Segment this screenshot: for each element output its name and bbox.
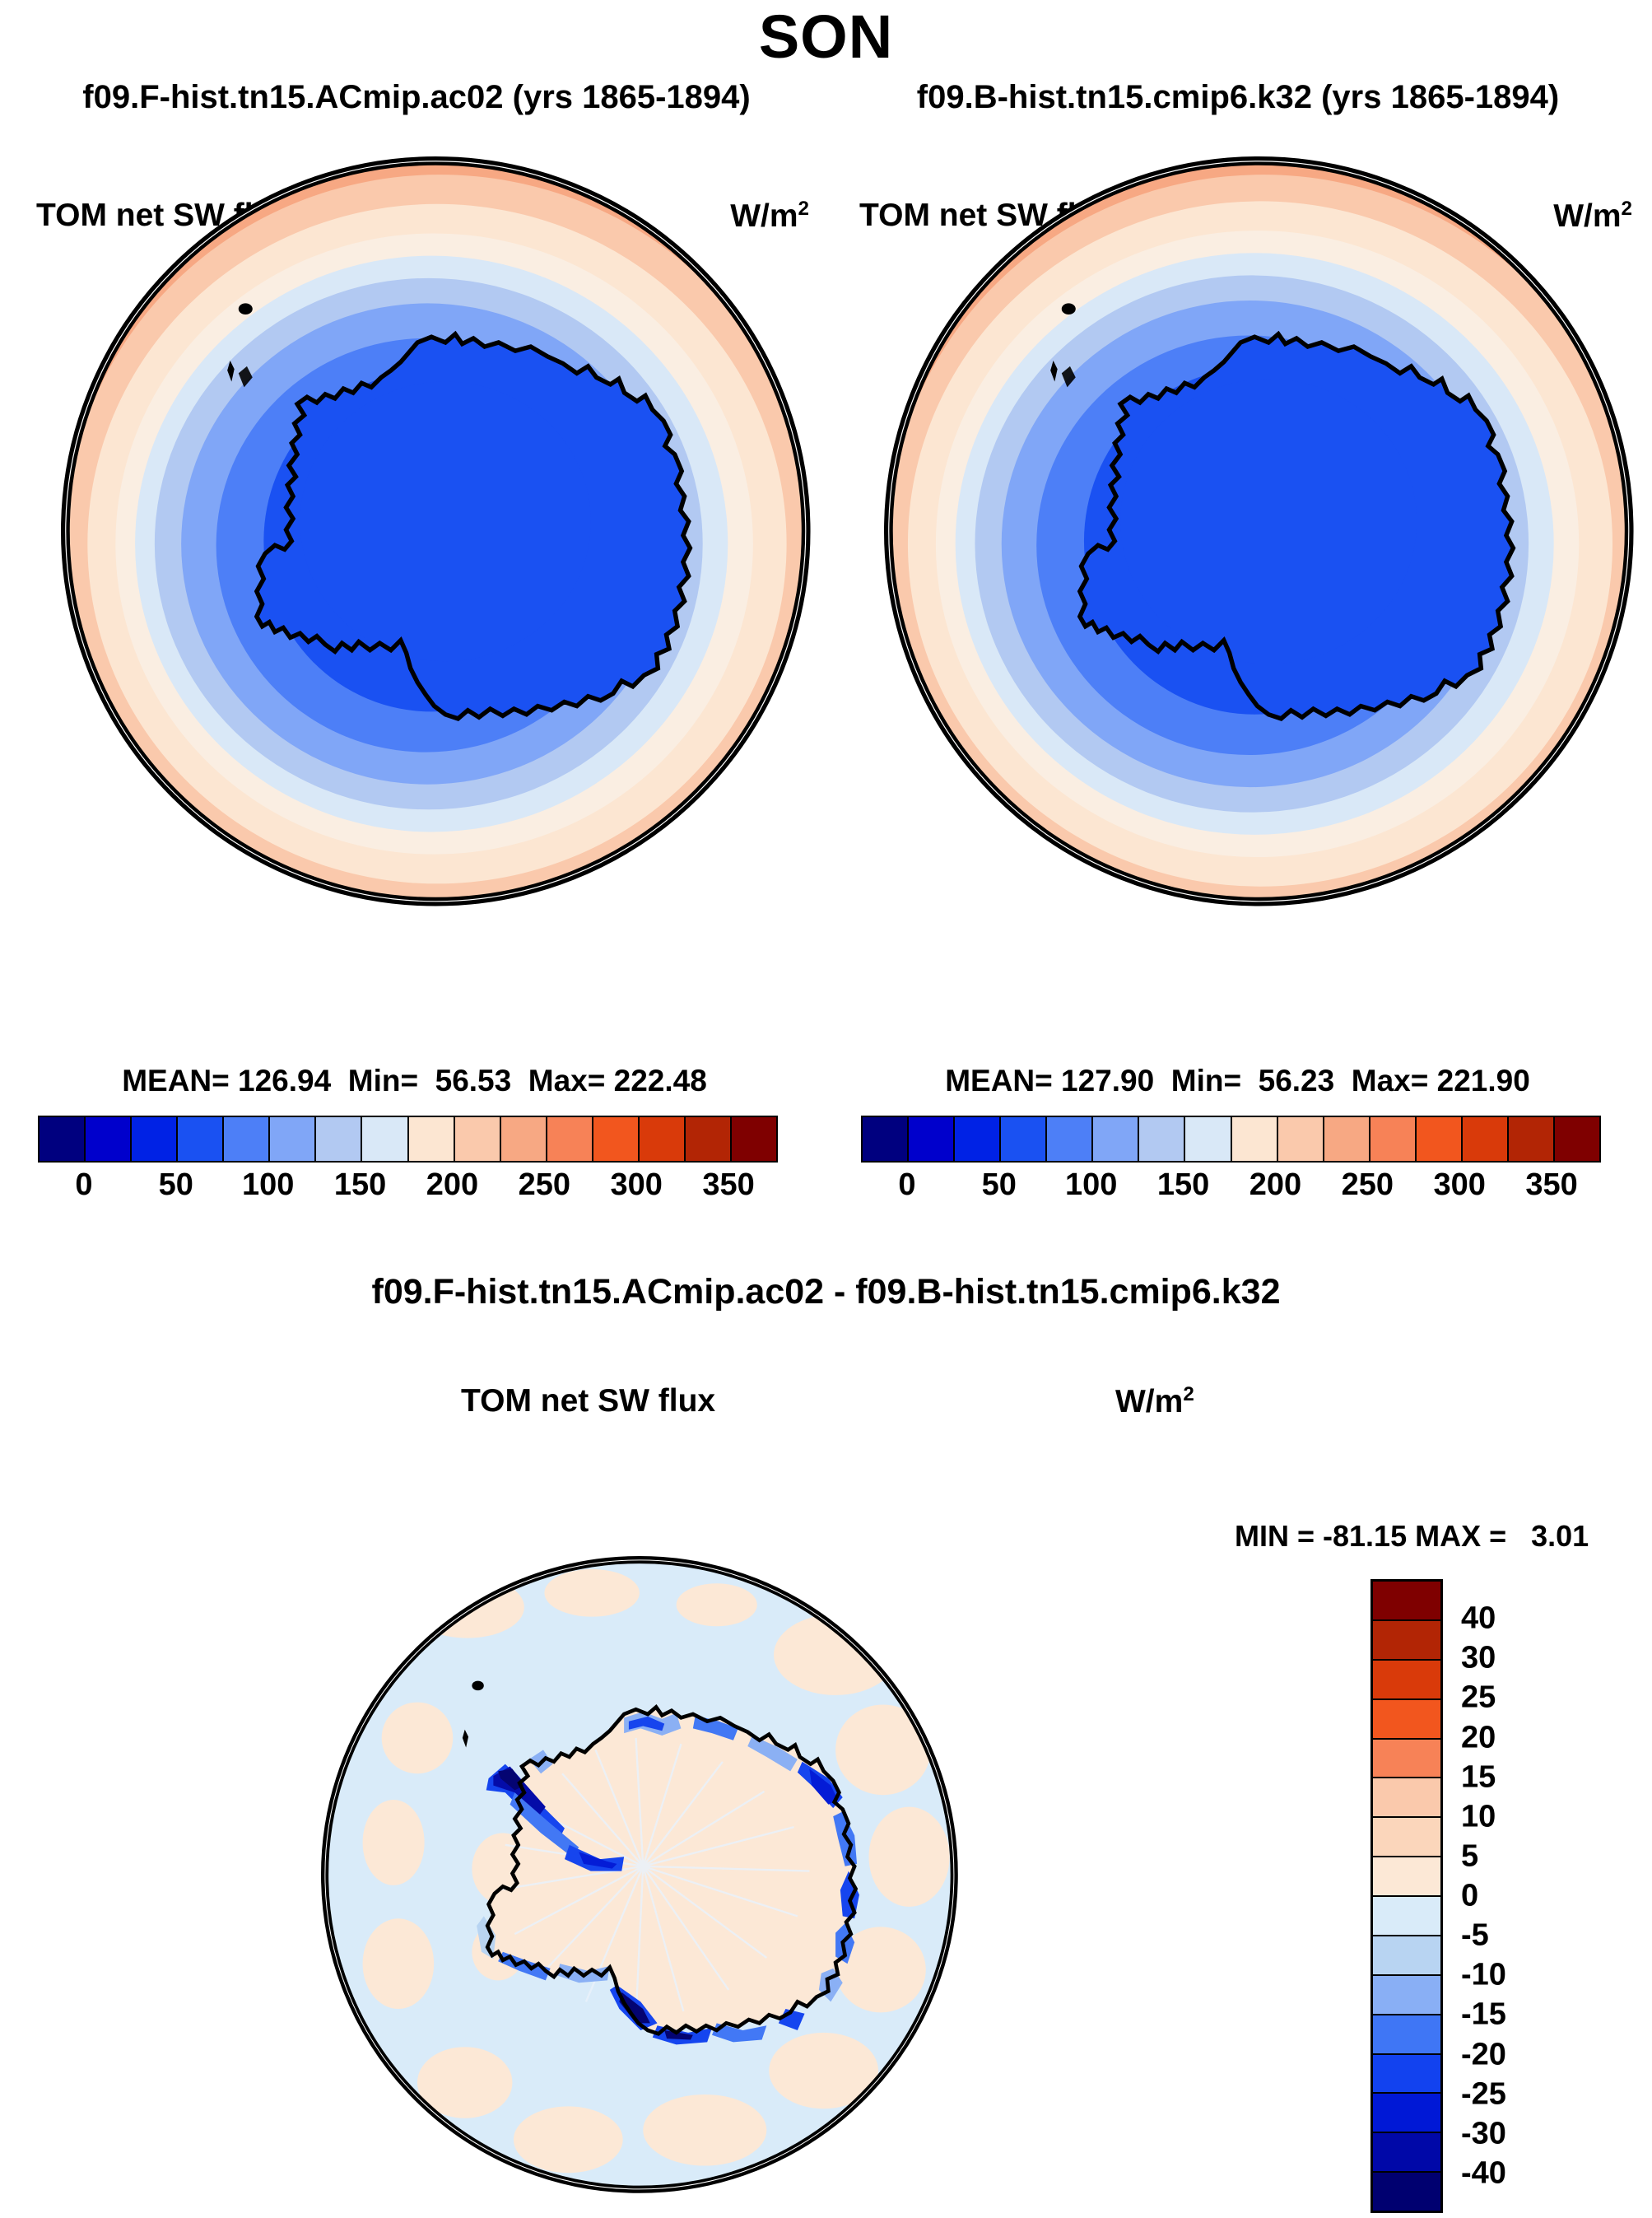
colorbar-cell-7 xyxy=(362,1117,408,1161)
colorbar-cell-7 xyxy=(1185,1117,1231,1161)
colorbar-tick-label: 350 xyxy=(702,1167,754,1203)
colorbar-right-labels: 050100150200250300350 xyxy=(861,1167,1598,1205)
colorbar-diff-cell-4 xyxy=(1373,1740,1440,1779)
colorbar-left xyxy=(38,1116,778,1163)
panel-right-stats: MEAN= 127.90 Min= 56.23 Max= 221.90 xyxy=(828,1064,1647,1098)
colorbar-difference-labels: 40302520151050-5-10-15-20-25-30-40 xyxy=(1461,1579,1593,2213)
panel-difference: TOM net SW flux W/m2 MIN = -81.15 MAX = … xyxy=(0,1383,1652,2215)
colorbar-diff-tick-label: 5 xyxy=(1461,1838,1478,1874)
colorbar-cell-4 xyxy=(1047,1117,1093,1161)
colorbar-cell-13 xyxy=(640,1117,686,1161)
panel-left-stats: MEAN= 126.94 Min= 56.53 Max= 222.48 xyxy=(5,1064,824,1098)
colorbar-tick-label: 200 xyxy=(426,1167,478,1203)
colorbar-diff-tick-label: -20 xyxy=(1461,2037,1506,2072)
colorbar-cell-11 xyxy=(547,1117,593,1161)
colorbar-cell-0 xyxy=(863,1117,909,1161)
colorbar-tick-label: 150 xyxy=(1157,1167,1209,1203)
colorbar-tick-label: 250 xyxy=(1342,1167,1394,1203)
colorbar-diff-cell-10 xyxy=(1373,1976,1440,2015)
colorbar-cell-13 xyxy=(1463,1117,1509,1161)
panel-difference-variable: TOM net SW flux xyxy=(461,1383,715,1419)
colorbar-diff-cell-8 xyxy=(1373,1897,1440,1936)
panel-difference-units: W/m2 xyxy=(1115,1383,1194,1420)
colorbar-diff-tick-label: 0 xyxy=(1461,1879,1478,1914)
colorbar-cell-0 xyxy=(40,1117,86,1161)
colorbar-cell-14 xyxy=(686,1117,732,1161)
colorbar-cell-6 xyxy=(1139,1117,1185,1161)
colorbar-cell-5 xyxy=(270,1117,316,1161)
colorbar-tick-label: 300 xyxy=(610,1167,662,1203)
colorbar-diff-tick-label: -15 xyxy=(1461,1997,1506,2033)
colorbar-cell-10 xyxy=(501,1117,547,1161)
colorbar-tick-label: 50 xyxy=(982,1167,1017,1203)
colorbar-cell-5 xyxy=(1093,1117,1139,1161)
colorbar-cell-8 xyxy=(1232,1117,1278,1161)
page-title: SON xyxy=(0,2,1652,72)
colorbar-diff-tick-label: -25 xyxy=(1461,2076,1506,2112)
colorbar-diff-cell-11 xyxy=(1373,2015,1440,2055)
colorbar-tick-label: 150 xyxy=(334,1167,386,1203)
colorbar-tick-label: 50 xyxy=(159,1167,193,1203)
colorbar-diff-tick-label: -10 xyxy=(1461,1958,1506,1993)
colorbar-diff-cell-0 xyxy=(1373,1582,1440,1621)
colorbar-diff-cell-3 xyxy=(1373,1700,1440,1740)
colorbar-cell-1 xyxy=(86,1117,132,1161)
colorbar-cell-3 xyxy=(178,1117,224,1161)
colorbar-difference xyxy=(1370,1579,1443,2213)
colorbar-right xyxy=(861,1116,1601,1163)
colorbar-cell-4 xyxy=(224,1117,270,1161)
colorbar-cell-12 xyxy=(593,1117,640,1161)
colorbar-diff-cell-2 xyxy=(1373,1661,1440,1700)
colorbar-diff-cell-6 xyxy=(1373,1818,1440,1857)
panel-left-units: W/m2 xyxy=(730,198,809,235)
colorbar-tick-label: 350 xyxy=(1525,1167,1577,1203)
colorbar-cell-9 xyxy=(1278,1117,1324,1161)
colorbar-diff-tick-label: 40 xyxy=(1461,1601,1496,1637)
colorbar-diff-cell-12 xyxy=(1373,2055,1440,2095)
colorbar-cell-9 xyxy=(455,1117,501,1161)
colorbar-diff-tick-label: -40 xyxy=(1461,2155,1506,2191)
colorbar-left-labels: 050100150200250300350 xyxy=(38,1167,775,1205)
map-globe-difference xyxy=(321,1556,958,2193)
colorbar-tick-label: 100 xyxy=(242,1167,294,1203)
difference-minmax: MIN = -81.15 MAX = 3.01 xyxy=(1235,1519,1589,1554)
panel-left: TOM net SW flux W/m2 xyxy=(5,189,824,1219)
colorbar-cell-12 xyxy=(1417,1117,1463,1161)
colorbar-diff-tick-label: 10 xyxy=(1461,1799,1496,1834)
colorbar-diff-tick-label: -5 xyxy=(1461,1918,1489,1954)
colorbar-cell-1 xyxy=(909,1117,955,1161)
colorbar-tick-label: 250 xyxy=(519,1167,570,1203)
colorbar-tick-label: 200 xyxy=(1249,1167,1301,1203)
panel-right-units: W/m2 xyxy=(1553,198,1632,235)
colorbar-cell-11 xyxy=(1370,1117,1417,1161)
colorbar-cell-3 xyxy=(1001,1117,1047,1161)
colorbar-diff-cell-13 xyxy=(1373,2094,1440,2133)
difference-title: f09.F-hist.tn15.ACmip.ac02 - f09.B-hist.… xyxy=(0,1272,1652,1312)
colorbar-diff-cell-7 xyxy=(1373,1857,1440,1897)
colorbar-diff-cell-15 xyxy=(1373,2173,1440,2211)
colorbar-diff-tick-label: 30 xyxy=(1461,1641,1496,1676)
colorbar-diff-cell-14 xyxy=(1373,2133,1440,2173)
case-name-right: f09.B-hist.tn15.cmip6.k32 (yrs 1865-1894… xyxy=(826,79,1650,116)
colorbar-tick-label: 0 xyxy=(898,1167,915,1203)
colorbar-cell-10 xyxy=(1324,1117,1370,1161)
colorbar-diff-tick-label: 25 xyxy=(1461,1680,1496,1716)
colorbar-cell-14 xyxy=(1509,1117,1555,1161)
colorbar-diff-cell-9 xyxy=(1373,1936,1440,1976)
map-globe-left xyxy=(61,156,811,906)
colorbar-diff-tick-label: 15 xyxy=(1461,1759,1496,1795)
colorbar-tick-label: 0 xyxy=(75,1167,92,1203)
colorbar-cell-6 xyxy=(316,1117,362,1161)
colorbar-cell-2 xyxy=(955,1117,1001,1161)
colorbar-diff-tick-label: 20 xyxy=(1461,1720,1496,1755)
colorbar-diff-cell-5 xyxy=(1373,1778,1440,1818)
colorbar-cell-15 xyxy=(732,1117,776,1161)
map-globe-right xyxy=(884,156,1634,906)
colorbar-tick-label: 300 xyxy=(1433,1167,1485,1203)
colorbar-cell-8 xyxy=(409,1117,455,1161)
colorbar-cell-2 xyxy=(132,1117,178,1161)
colorbar-diff-cell-1 xyxy=(1373,1621,1440,1661)
colorbar-cell-15 xyxy=(1555,1117,1599,1161)
panel-right: TOM net SW flux W/m2 xyxy=(828,189,1647,1219)
colorbar-tick-label: 100 xyxy=(1065,1167,1117,1203)
colorbar-diff-tick-label: -30 xyxy=(1461,2116,1506,2151)
case-name-left: f09.F-hist.tn15.ACmip.ac02 (yrs 1865-189… xyxy=(5,79,828,116)
